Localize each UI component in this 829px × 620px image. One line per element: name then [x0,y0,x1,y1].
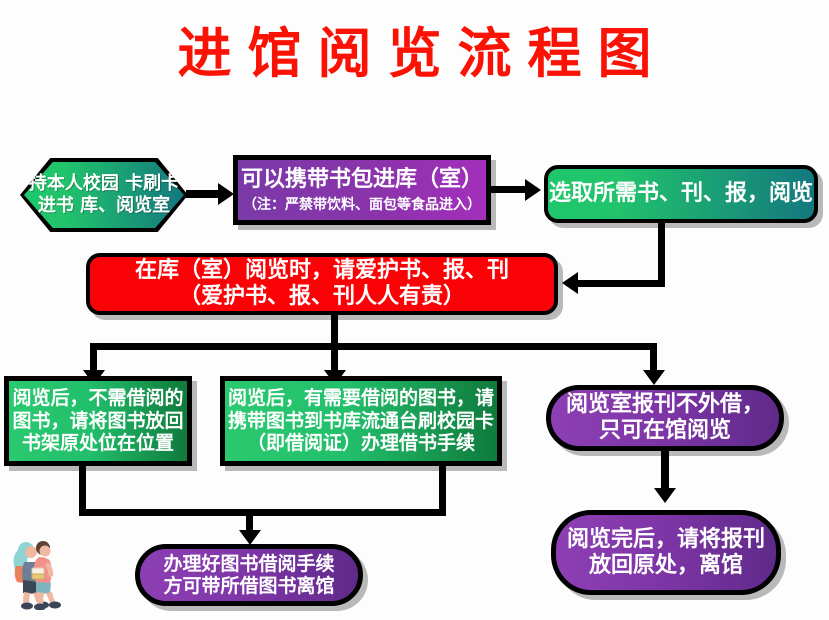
node-periodicals-line2: 只可在馆阅览 [599,418,731,444]
connector-periodicals-down [661,451,669,493]
node-no-borrow-line3: 书架原处位在位置 [22,432,174,454]
node-periodicals-line1: 阅览室报刊不外借， [566,392,764,418]
node-return-periodicals[interactable]: 阅览完后，请将报刊 放回原处，离馆 [551,510,781,595]
node-borrow-line3: （即借阅证）办理借书手续 [247,432,475,454]
connector-merge-busbar [79,509,446,516]
arrowhead-start-to-bag [218,183,234,205]
node-leave-line2: 方可带所借图书离馆 [163,575,334,597]
node-select-line1: 选取所需书、刊、报，阅览 [549,181,813,207]
node-no-borrow-line1: 阅览后，不需借阅的 [12,387,183,409]
node-no-borrow[interactable]: 阅览后，不需借阅的 图书，请将图书放回 书架原处位在位置 [4,376,192,466]
arrowhead-select-to-care [562,272,578,294]
connector-select-down [658,223,665,283]
node-borrow-line1: 阅览后，有需要借阅的图书，请 [228,387,494,409]
node-select[interactable]: 选取所需书、刊、报，阅览 [544,165,818,223]
node-care-line2: （爱护书、报、刊人人有责） [179,284,465,310]
node-return-line2: 放回原处，离馆 [589,553,743,579]
node-borrow-line2: 携带图书到书库流通台刷校园卡 [228,410,494,432]
node-care[interactable]: 在库（室）阅览时，请爱护书、报、刊 （爱护书、报、刊人人有责） [86,253,558,315]
flowchart-canvas: 进馆阅览流程图 持本人校园 卡刷卡进书 库、阅览室 可以携带书包进库（室） （注… [0,0,829,620]
node-leave-with-books[interactable]: 办理好图书借阅手续 方可带所借图书离馆 [135,544,363,606]
arrowhead-periodicals-to-return [654,488,676,503]
node-bag-line1: 可以携带书包进库（室） [241,167,483,193]
page-title: 进馆阅览流程图 [0,20,829,86]
connector-care-busbar [90,343,657,350]
arrowhead-care-to-periodicals [643,370,665,385]
arrowhead-merge-to-leave [239,530,261,545]
node-leave-line1: 办理好图书借阅手续 [163,553,334,575]
arrowhead-bag-to-select [525,179,541,201]
node-care-line1: 在库（室）阅览时，请爱护书、报、刊 [135,258,509,284]
node-borrow[interactable]: 阅览后，有需要借阅的图书，请 携带图书到书库流通台刷校园卡 （即借阅证）办理借书… [220,376,502,466]
node-return-line1: 阅览完后，请将报刊 [567,527,765,553]
students-illustration-icon [6,530,70,610]
node-start-label: 持本人校园 卡刷卡进书 库、阅览室 [20,173,188,216]
node-start-hexagon[interactable]: 持本人校园 卡刷卡进书 库、阅览室 [20,158,188,232]
node-no-borrow-line2: 图书，请将图书放回 [12,410,183,432]
connector-select-left [578,280,665,287]
connector-start-to-bag [186,190,220,198]
node-periodicals[interactable]: 阅览室报刊不外借， 只可在馆阅览 [546,385,784,451]
node-bag[interactable]: 可以携带书包进库（室） （注：严禁带饮料、面包等食品进入） [233,155,491,225]
node-bag-line2: （注：严禁带饮料、面包等食品进入） [243,197,481,214]
